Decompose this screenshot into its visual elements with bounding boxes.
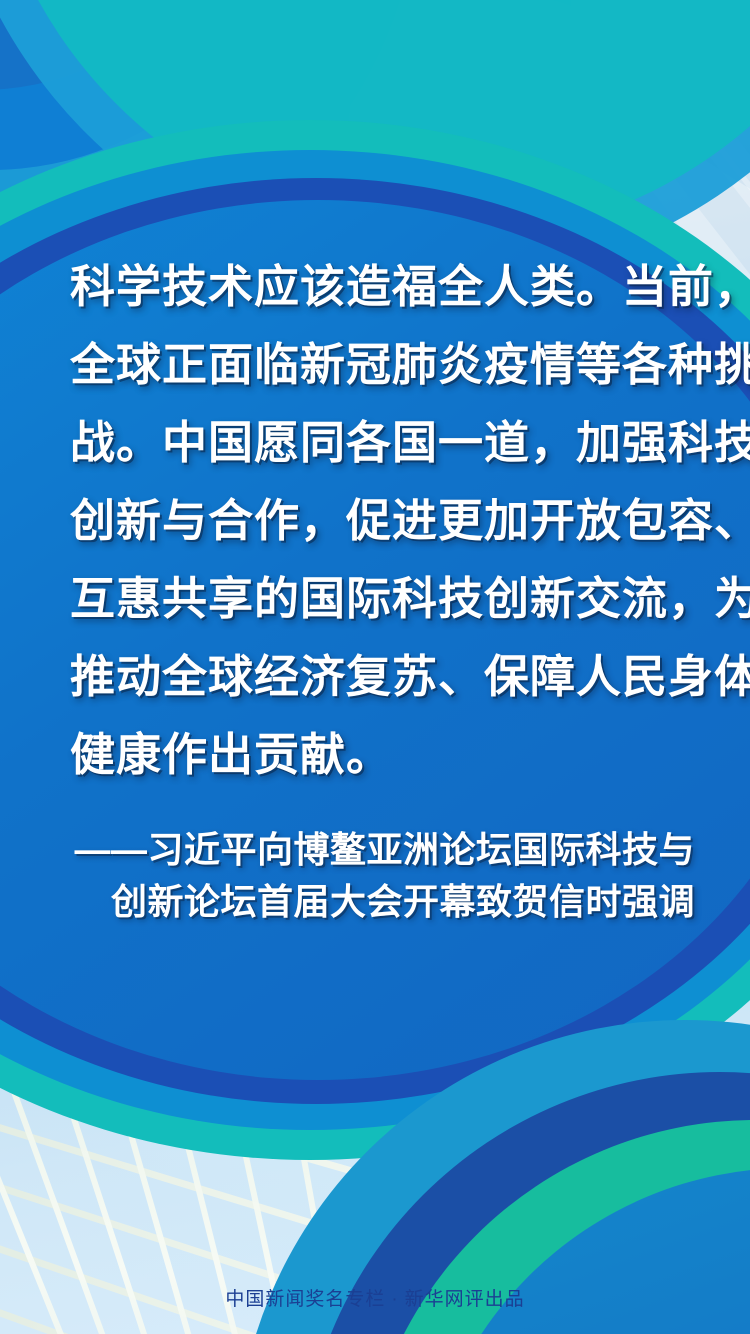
quote-line: 战。中国愿同各国一道，加强科技 (70, 404, 695, 482)
footer-column-name: 中国新闻奖名专栏 (225, 1289, 385, 1310)
quote-line: 科学技术应该造福全人类。当前， (70, 248, 695, 326)
quote-attribution: ——习近平向博鳌亚洲论坛国际科技与 创新论坛首届大会开幕致贺信时强调 (70, 824, 695, 928)
footer-separator: · (385, 1289, 404, 1310)
poster-canvas: 科学技术应该造福全人类。当前， 全球正面临新冠肺炎疫情等各种挑 战。中国愿同各国… (0, 0, 750, 1334)
quote-line: 推动全球经济复苏、保障人民身体 (70, 638, 695, 716)
quote-line: 全球正面临新冠肺炎疫情等各种挑 (70, 326, 695, 404)
footer-credit: 中国新闻奖名专栏·新华网评出品 (0, 1284, 750, 1311)
quote-line: 健康作出贡献。 (70, 716, 695, 794)
attribution-line: ——习近平向博鳌亚洲论坛国际科技与 (70, 824, 695, 876)
attribution-line: 创新论坛首届大会开幕致贺信时强调 (70, 876, 695, 928)
quote-line: 互惠共享的国际科技创新交流，为 (70, 560, 695, 638)
footer-producer: 新华网评出品 (405, 1289, 525, 1310)
quote-line: 创新与合作，促进更加开放包容、 (70, 482, 695, 560)
quote-text: 科学技术应该造福全人类。当前， 全球正面临新冠肺炎疫情等各种挑 战。中国愿同各国… (70, 248, 695, 794)
